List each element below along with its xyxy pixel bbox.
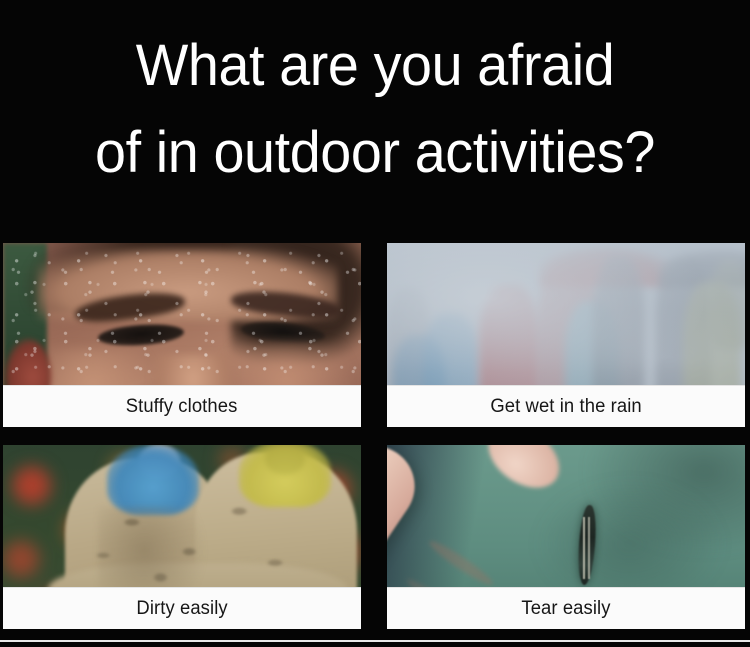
- option-label-stuffy-clothes: Stuffy clothes: [126, 397, 238, 416]
- option-label-bar-tear-easily: Tear easily: [387, 587, 745, 629]
- option-grid: Stuffy clothes Get wet: [3, 243, 747, 633]
- bottom-divider: [0, 640, 750, 642]
- option-card-stuffy-clothes[interactable]: Stuffy clothes: [3, 243, 361, 427]
- page-title-line-2: of in outdoor activities?: [15, 109, 735, 196]
- option-label-bar-stuffy-clothes: Stuffy clothes: [3, 385, 361, 427]
- option-label-bar-get-wet-in-the-rain: Get wet in the rain: [387, 385, 745, 427]
- option-label-get-wet-in-the-rain: Get wet in the rain: [490, 397, 641, 416]
- option-label-bar-dirty-easily: Dirty easily: [3, 587, 361, 629]
- option-card-tear-easily[interactable]: Tear easily: [387, 445, 745, 629]
- option-label-dirty-easily: Dirty easily: [136, 599, 227, 618]
- page-title: What are you afraid of in outdoor activi…: [15, 22, 735, 196]
- option-label-tear-easily: Tear easily: [521, 599, 610, 618]
- option-card-get-wet-in-the-rain[interactable]: Get wet in the rain: [387, 243, 745, 427]
- option-card-dirty-easily[interactable]: Dirty easily: [3, 445, 361, 629]
- page-title-line-1: What are you afraid: [15, 22, 735, 109]
- poster: What are you afraid of in outdoor activi…: [0, 0, 750, 647]
